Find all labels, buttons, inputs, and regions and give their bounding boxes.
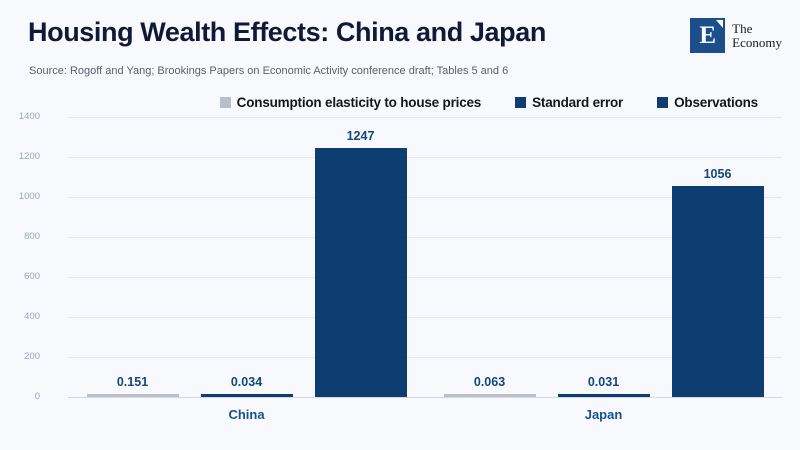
bar[interactable]	[315, 148, 407, 397]
brand-line-1: The	[732, 22, 782, 36]
y-axis-tick-label: 1000	[0, 191, 40, 202]
y-axis-tick-label: 400	[0, 311, 40, 322]
gridline	[68, 117, 782, 118]
legend-item-label: Consumption elasticity to house prices	[237, 95, 481, 110]
y-axis-tick-label: 200	[0, 351, 40, 362]
bar[interactable]	[444, 394, 536, 397]
bar-value-label: 0.151	[117, 375, 148, 389]
legend-swatch-icon	[657, 97, 668, 108]
y-axis-tick-label: 800	[0, 231, 40, 242]
chart-legend: Consumption elasticity to house pricesSt…	[0, 92, 800, 112]
y-axis-tick-label: 0	[0, 391, 40, 402]
chart-header: Housing Wealth Effects: China and Japan …	[0, 0, 800, 88]
chart-page: Housing Wealth Effects: China and Japan …	[0, 0, 800, 450]
bar-value-label: 1247	[347, 129, 375, 143]
y-axis-tick-label: 600	[0, 271, 40, 282]
legend-item[interactable]: Observations	[657, 95, 758, 110]
gridline	[68, 157, 782, 158]
gridline	[68, 397, 782, 398]
chart-plot: 02004006008001000120014000.1510.0341247C…	[0, 112, 800, 412]
page-title: Housing Wealth Effects: China and Japan	[28, 17, 546, 48]
legend-item-label: Observations	[674, 95, 758, 110]
y-axis-tick-label: 1400	[0, 111, 40, 122]
economy-logo-icon: E	[690, 18, 725, 53]
bar-value-label: 0.063	[474, 375, 505, 389]
x-axis-category-label: Japan	[585, 407, 623, 422]
legend-swatch-icon	[220, 97, 231, 108]
brand-wordmark: The Economy	[732, 22, 782, 50]
source-note: Source: Rogoff and Yang; Brookings Paper…	[29, 65, 508, 77]
brand-line-2: Economy	[732, 36, 782, 50]
brand-logo: E The Economy	[690, 18, 782, 53]
y-axis-tick-label: 1200	[0, 151, 40, 162]
legend-swatch-icon	[515, 97, 526, 108]
legend-item[interactable]: Consumption elasticity to house prices	[220, 95, 481, 110]
bar[interactable]	[201, 394, 293, 397]
legend-item[interactable]: Standard error	[515, 95, 623, 110]
x-axis-category-label: China	[228, 407, 264, 422]
brand-mark-letter: E	[699, 23, 716, 48]
bar[interactable]	[558, 394, 650, 397]
bar-value-label: 0.034	[231, 375, 262, 389]
bar[interactable]	[87, 394, 179, 397]
bar-value-label: 1056	[704, 167, 732, 181]
legend-item-label: Standard error	[532, 95, 623, 110]
plot-area: 02004006008001000120014000.1510.0341247C…	[68, 117, 782, 397]
bar[interactable]	[672, 186, 764, 397]
bar-value-label: 0.031	[588, 375, 619, 389]
brand-flag-icon	[716, 20, 723, 28]
